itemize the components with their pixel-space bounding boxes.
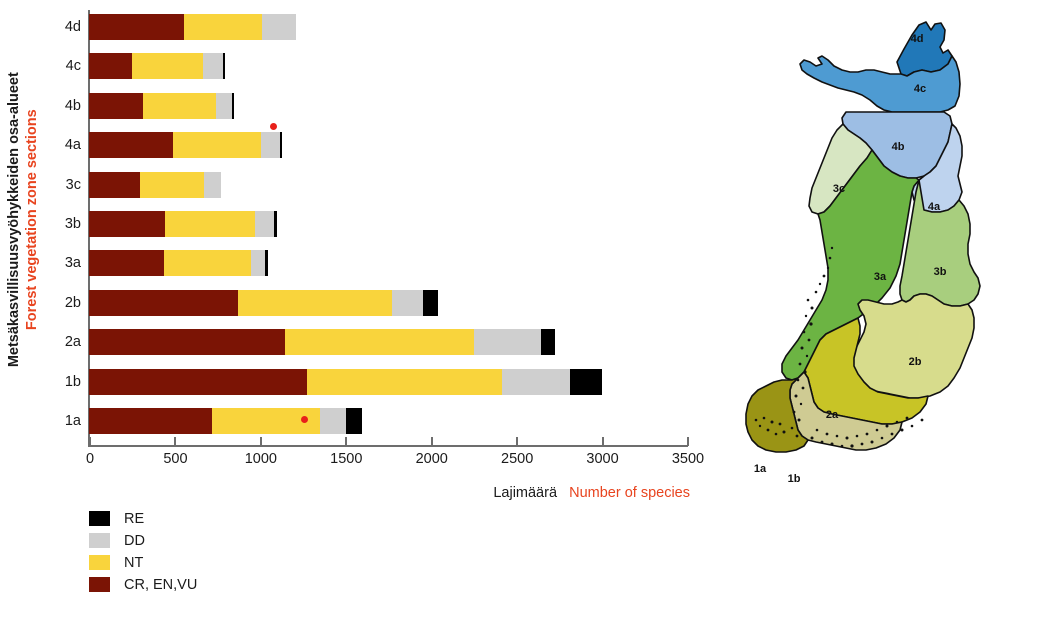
bar-segment-cr-en-vu[interactable] <box>89 408 212 434</box>
x-tick-label: 3500 <box>672 451 704 467</box>
bar-segment-dd[interactable] <box>203 53 224 79</box>
bar-segment-re[interactable] <box>423 290 438 316</box>
x-tick-mark <box>345 437 347 446</box>
y-tick-label: 1a <box>65 408 81 434</box>
red-dot-marker <box>270 123 277 130</box>
bar-segment-cr-en-vu[interactable] <box>89 369 307 395</box>
x-axis-title-fi: Lajimäärä <box>493 485 557 501</box>
bar-segment-cr-en-vu[interactable] <box>89 53 132 79</box>
bar-segment-re[interactable] <box>232 93 235 119</box>
x-tick-label: 0 <box>86 451 94 467</box>
bar-segment-nt[interactable] <box>238 290 393 316</box>
y-tick-label: 2a <box>65 329 81 355</box>
x-tick-label: 1500 <box>330 451 362 467</box>
bar-segment-re[interactable] <box>223 53 225 79</box>
map-label-1a: 1a <box>754 463 767 475</box>
y-tick-label: 3b <box>65 211 81 237</box>
bar-segment-cr-en-vu[interactable] <box>89 211 165 237</box>
x-tick-label: 3000 <box>586 451 618 467</box>
bar-segment-cr-en-vu[interactable] <box>89 290 238 316</box>
bar-segment-re[interactable] <box>346 408 361 434</box>
bar-segment-re[interactable] <box>541 329 556 355</box>
map-label-3a: 3a <box>874 271 887 283</box>
map-svg: 4d4c4b4a3c3b3a2b2a1b1a <box>712 0 1062 500</box>
x-tick-mark <box>260 437 262 446</box>
y-tick-label: 4a <box>65 132 81 158</box>
bar-segment-nt[interactable] <box>307 369 503 395</box>
bar-segment-dd[interactable] <box>255 211 274 237</box>
legend-label: CR, EN,VU <box>124 577 197 593</box>
bar-segment-nt[interactable] <box>132 53 203 79</box>
x-tick-mark <box>687 437 689 446</box>
x-axis-title-en: Number of species <box>569 485 690 501</box>
bar-segment-dd[interactable] <box>502 369 569 395</box>
y-axis-title: Metsäkasvillisuusvyöhykkeiden osa-alueet… <box>0 0 46 440</box>
legend-item[interactable]: NT <box>89 552 197 573</box>
y-tick-label: 4d <box>65 14 81 40</box>
red-dot-marker <box>301 416 308 423</box>
x-tick-label: 500 <box>163 451 187 467</box>
map-label-4c: 4c <box>914 83 926 95</box>
legend-swatch-nt <box>89 555 110 570</box>
bar-segment-dd[interactable] <box>251 250 265 276</box>
x-tick-mark <box>174 437 176 446</box>
bar-segment-nt[interactable] <box>173 132 261 158</box>
legend-label: RE <box>124 511 144 527</box>
plot-area: 4d4c4b4a3c3b3a2b2a1b1a <box>89 10 687 444</box>
x-tick-mark <box>516 437 518 446</box>
x-tick-mark <box>89 437 91 446</box>
y-tick-label: 2b <box>65 290 81 316</box>
bar-segment-re[interactable] <box>570 369 602 395</box>
bar-segment-cr-en-vu[interactable] <box>89 172 140 198</box>
map-label-3b: 3b <box>934 266 947 278</box>
y-axis-title-fi: Metsäkasvillisuusvyöhykkeiden osa-alueet <box>5 73 23 368</box>
legend-label: NT <box>124 555 143 571</box>
bar-segment-nt[interactable] <box>143 93 216 119</box>
legend: REDDNTCR, EN,VU <box>89 508 197 596</box>
bar-segment-dd[interactable] <box>262 14 296 40</box>
map-label-4d: 4d <box>911 33 924 45</box>
x-tick-label: 1000 <box>245 451 277 467</box>
finland-zone-map: 4d4c4b4a3c3b3a2b2a1b1a <box>712 0 1062 500</box>
bar-segment-re[interactable] <box>274 211 277 237</box>
bar-segment-dd[interactable] <box>204 172 220 198</box>
y-tick-label: 3c <box>66 172 81 198</box>
bar-segment-dd[interactable] <box>216 93 231 119</box>
bar-segment-cr-en-vu[interactable] <box>89 329 285 355</box>
y-tick-label: 3a <box>65 250 81 276</box>
x-tick-label: 2000 <box>416 451 448 467</box>
bar-segment-cr-en-vu[interactable] <box>89 14 184 40</box>
bar-segment-dd[interactable] <box>261 132 281 158</box>
legend-item[interactable]: RE <box>89 508 197 529</box>
x-tick-mark <box>431 437 433 446</box>
bar-segment-dd[interactable] <box>320 408 346 434</box>
map-region-2b[interactable] <box>850 294 974 398</box>
bar-segment-cr-en-vu[interactable] <box>89 250 164 276</box>
bar-segment-re[interactable] <box>280 132 282 158</box>
bar-segment-dd[interactable] <box>474 329 541 355</box>
bar-segment-nt[interactable] <box>285 329 475 355</box>
map-label-4a: 4a <box>928 201 941 213</box>
y-tick-label: 4c <box>66 53 81 79</box>
y-tick-label: 4b <box>65 93 81 119</box>
figure-root: Metsäkasvillisuusvyöhykkeiden osa-alueet… <box>0 0 1062 625</box>
map-label-3c: 3c <box>833 183 845 195</box>
map-label-2a: 2a <box>826 409 839 421</box>
bar-segment-nt[interactable] <box>165 211 255 237</box>
bar-segment-re[interactable] <box>265 250 268 276</box>
y-tick-label: 1b <box>65 369 81 395</box>
legend-item[interactable]: CR, EN,VU <box>89 574 197 595</box>
map-label-4b: 4b <box>892 141 905 153</box>
bar-segment-nt[interactable] <box>184 14 262 40</box>
y-axis-title-en: Forest vegetation zone sections <box>23 73 41 368</box>
bar-segment-cr-en-vu[interactable] <box>89 93 143 119</box>
legend-swatch-cr-en-vu <box>89 577 110 592</box>
x-axis-line <box>89 445 688 447</box>
bar-segment-cr-en-vu[interactable] <box>89 132 173 158</box>
legend-label: DD <box>124 533 145 549</box>
legend-item[interactable]: DD <box>89 530 197 551</box>
map-label-2b: 2b <box>909 356 922 368</box>
legend-swatch-dd <box>89 533 110 548</box>
x-tick-label: 2500 <box>501 451 533 467</box>
map-label-1b: 1b <box>788 473 801 485</box>
legend-swatch-re <box>89 511 110 526</box>
x-tick-mark <box>602 437 604 446</box>
x-axis-title: Lajimäärä Number of species <box>360 485 690 501</box>
bar-segment-dd[interactable] <box>392 290 423 316</box>
bar-segment-nt[interactable] <box>140 172 204 198</box>
bar-segment-nt[interactable] <box>164 250 251 276</box>
